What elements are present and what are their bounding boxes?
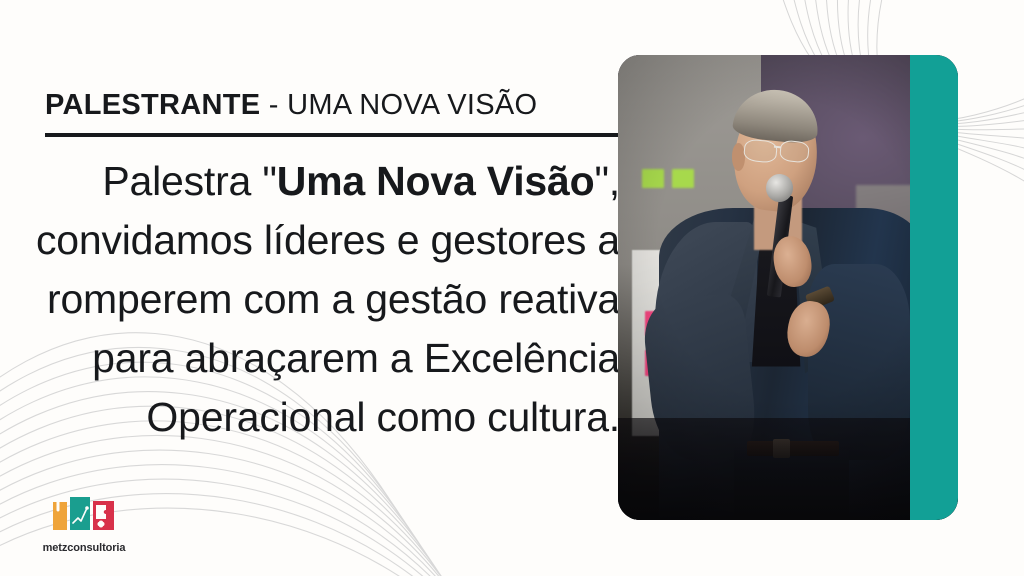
presentation-slide: PALESTRANTE - UMA NOVA VISÃO Palestra "U…	[0, 0, 1024, 576]
photo-teal-accent-bar	[910, 55, 958, 520]
kicker-block: PALESTRANTE - UMA NOVA VISÃO	[45, 90, 620, 137]
brand-wordmark: metzconsultoria	[38, 542, 130, 554]
body-highlight: Uma Nova Visão	[277, 158, 595, 204]
photo-vignette	[618, 55, 958, 520]
speaker-photo-card	[618, 55, 958, 520]
body-paragraph: Palestra "Uma Nova Visão", convidamos lí…	[30, 152, 620, 447]
speaker-photo	[618, 55, 958, 520]
kicker-separator: -	[260, 89, 287, 121]
body-block: Palestra "Uma Nova Visão", convidamos lí…	[30, 152, 620, 447]
kicker-text: PALESTRANTE - UMA NOVA VISÃO	[45, 90, 620, 122]
body-lead: Palestra "	[102, 158, 276, 204]
kicker-bold: PALESTRANTE	[45, 89, 260, 121]
kicker-underline-rule	[45, 133, 620, 137]
brand-logo[interactable]: metzconsultoria	[38, 493, 168, 554]
kicker-light: UMA NOVA VISÃO	[287, 89, 537, 121]
metz-puzzle-logo-icon	[50, 493, 118, 533]
